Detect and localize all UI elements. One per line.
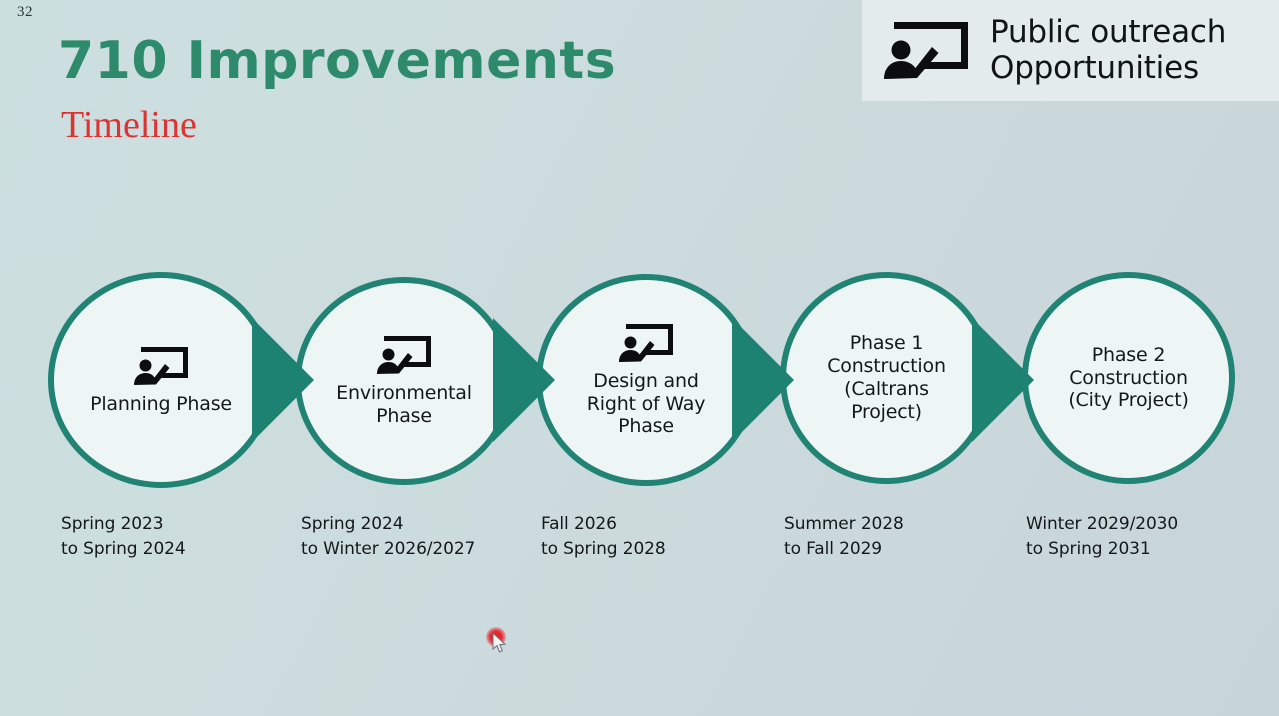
caption-line: Spring 2023 — [61, 512, 186, 537]
timeline-caption-4: Summer 2028 to Fall 2029 — [784, 512, 904, 561]
label-line: (City Project) — [1068, 389, 1188, 412]
label-line: Project) — [827, 401, 946, 424]
timeline-node-label: Phase 1 Construction (Caltrans Project) — [819, 332, 954, 423]
label-line: Phase 2 — [1068, 344, 1188, 367]
timeline-node-environmental-phase[interactable]: Environmental Phase — [295, 277, 513, 485]
caption-line: Fall 2026 — [541, 512, 666, 537]
caption-line: to Spring 2024 — [61, 537, 186, 562]
label-line: Environmental — [336, 382, 472, 405]
label-line: Phase — [336, 405, 472, 428]
label-line: (Caltrans — [827, 378, 946, 401]
timeline-caption-1: Spring 2023 to Spring 2024 — [61, 512, 186, 561]
timeline-node-content: Phase 1 Construction (Caltrans Project) — [786, 278, 987, 478]
timeline-node-content: Phase 2 Construction (City Project) — [1028, 278, 1229, 478]
caption-line: to Fall 2029 — [784, 537, 904, 562]
label-line: Construction — [1068, 367, 1188, 390]
caption-line: to Winter 2026/2027 — [301, 537, 475, 562]
label-line: Design and — [587, 370, 705, 393]
timeline-arrow-4 — [972, 318, 1034, 442]
presenter-board-icon — [373, 334, 435, 376]
timeline-diagram: Planning Phase Environmental Phase — [0, 0, 1279, 716]
label-line: Phase 1 — [827, 332, 946, 355]
presenter-board-icon — [130, 345, 192, 387]
timeline-node-label: Planning Phase — [82, 393, 240, 416]
timeline-node-label: Design and Right of Way Phase — [579, 370, 713, 438]
label-line: Right of Way — [587, 393, 705, 416]
timeline-node-content: Planning Phase — [54, 278, 268, 482]
presenter-board-icon — [615, 322, 677, 364]
timeline-node-label: Environmental Phase — [328, 382, 480, 428]
caption-line: Spring 2024 — [301, 512, 475, 537]
timeline-arrow-1 — [252, 318, 314, 442]
timeline-node-planning-phase[interactable]: Planning Phase — [48, 272, 274, 488]
timeline-node-phase-2-construction[interactable]: Phase 2 Construction (City Project) — [1022, 272, 1235, 484]
caption-line: Winter 2029/2030 — [1026, 512, 1178, 537]
timeline-node-content: Design and Right of Way Phase — [542, 280, 750, 480]
timeline-node-content: Environmental Phase — [301, 283, 507, 479]
caption-line: Summer 2028 — [784, 512, 904, 537]
label-line: Construction — [827, 355, 946, 378]
timeline-caption-5: Winter 2029/2030 to Spring 2031 — [1026, 512, 1178, 561]
label-line: Phase — [587, 415, 705, 438]
timeline-node-design-row-phase[interactable]: Design and Right of Way Phase — [536, 274, 756, 486]
label-line: Planning Phase — [90, 393, 232, 416]
caption-line: to Spring 2031 — [1026, 537, 1178, 562]
timeline-arrow-3 — [732, 318, 794, 442]
timeline-node-label: Phase 2 Construction (City Project) — [1060, 344, 1196, 412]
caption-line: to Spring 2028 — [541, 537, 666, 562]
timeline-node-phase-1-construction[interactable]: Phase 1 Construction (Caltrans Project) — [780, 272, 993, 484]
mouse-pointer-icon — [492, 632, 508, 654]
timeline-caption-3: Fall 2026 to Spring 2028 — [541, 512, 666, 561]
presentation-slide: 32 710 Improvements Timeline Public outr… — [0, 0, 1279, 716]
timeline-caption-2: Spring 2024 to Winter 2026/2027 — [301, 512, 475, 561]
timeline-arrow-2 — [493, 318, 555, 442]
